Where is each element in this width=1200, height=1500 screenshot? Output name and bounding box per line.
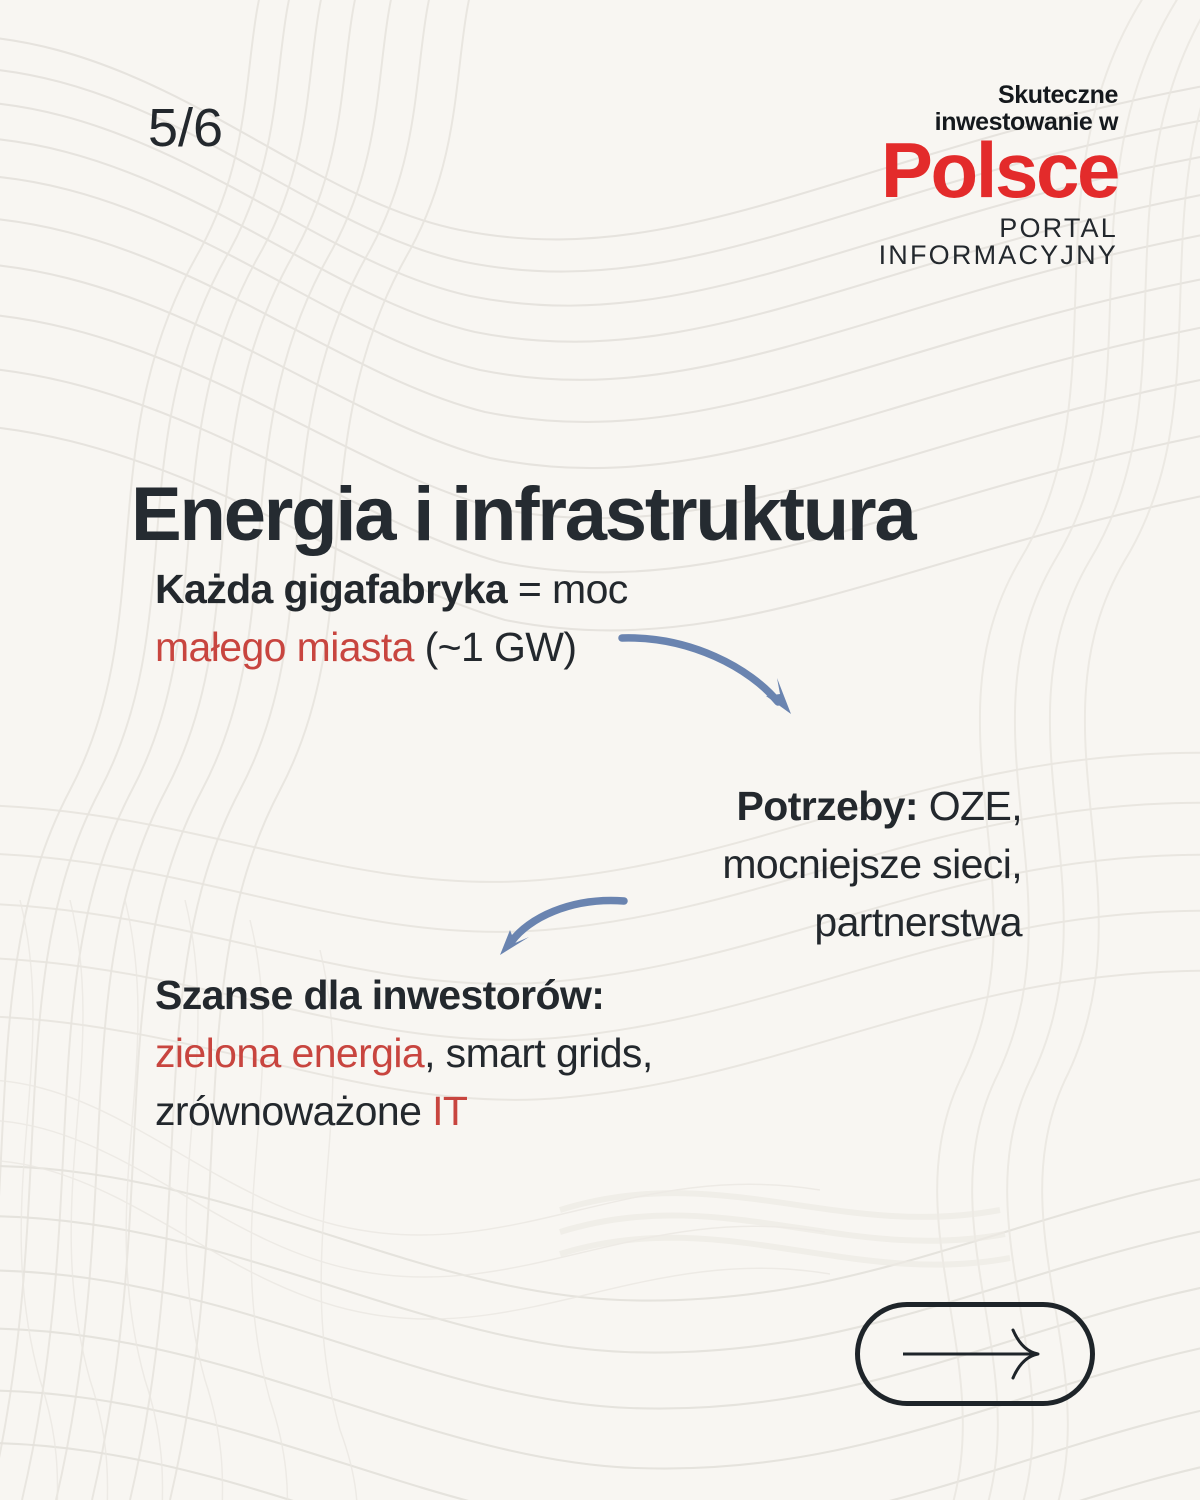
logo-subtitle: PORTAL INFORMACYJNY [758, 215, 1118, 269]
long-right-arrow-icon [895, 1324, 1055, 1384]
gigafabryka-bold-lead: Każda gigafabryka [155, 566, 507, 612]
szanse-bold-lead: Szanse dla inwestorów: [155, 972, 604, 1018]
next-slide-button[interactable] [855, 1302, 1095, 1406]
text-block-szanse: Szanse dla inwestorów: zielona energia, … [155, 966, 655, 1141]
szanse-accent-2: IT [432, 1088, 467, 1134]
slide-canvas: 5/6 Skuteczneinwestowanie w Polsce PORTA… [0, 0, 1200, 1500]
logo-wordmark: Polsce [758, 137, 1118, 204]
page-counter: 5/6 [148, 101, 223, 155]
page-title: Energia i infrastruktura [131, 475, 914, 555]
text-block-gigafabryka: Każda gigafabryka = moc małego miasta (~… [155, 560, 675, 676]
logo-tagline-line1: Skuteczne [998, 81, 1118, 109]
gigafabryka-plain-1: = moc [518, 566, 628, 612]
gigafabryka-accent-1: małego miasta [155, 624, 414, 670]
gigafabryka-plain-2: (~1 GW) [414, 624, 577, 670]
text-block-potrzeby: Potrzeby: OZE, mocniejsze sieci, partner… [562, 777, 1022, 952]
szanse-accent-1: zielona energia [155, 1030, 424, 1076]
potrzeby-bold-lead: Potrzeby: [737, 783, 918, 829]
brand-logo: Skuteczneinwestowanie w Polsce PORTAL IN… [758, 82, 1118, 269]
